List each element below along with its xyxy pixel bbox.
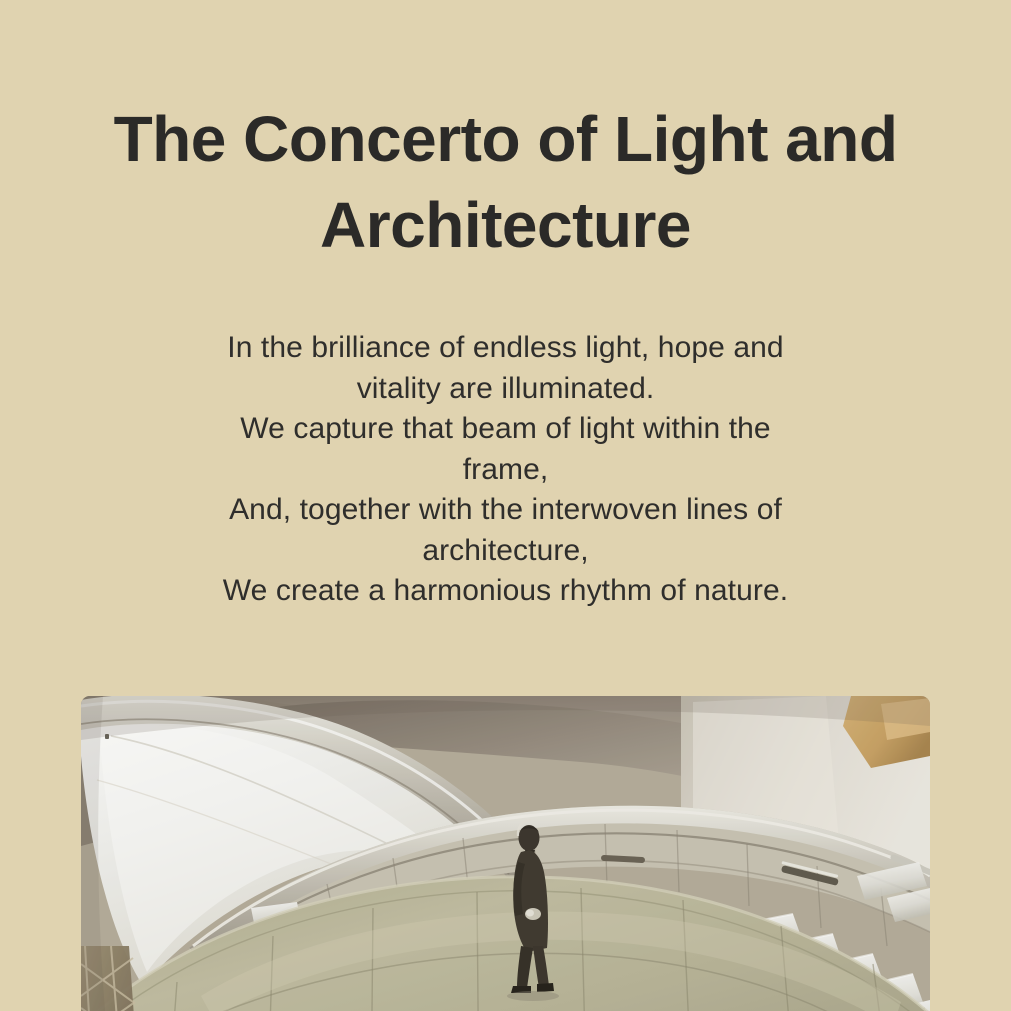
poem-line-1: In the brilliance of endless light, hope… [150, 328, 861, 369]
page-title: The Concerto of Light and Architecture [60, 96, 951, 268]
architecture-photo [81, 696, 930, 1011]
poem-block: In the brilliance of endless light, hope… [150, 328, 861, 612]
poem-line-5: And, together with the interwoven lines … [150, 490, 861, 531]
poem-line-3: We capture that beam of light within the [150, 409, 861, 450]
poem-line-6: architecture, [150, 531, 861, 572]
poster-page: The Concerto of Light and Architecture I… [0, 0, 1011, 1011]
architecture-photo-illustration [81, 696, 930, 1011]
poem-line-7: We create a harmonious rhythm of nature. [150, 571, 861, 612]
title-block: The Concerto of Light and Architecture [60, 96, 951, 268]
poem-line-2: vitality are illuminated. [150, 369, 861, 410]
poem-line-4: frame, [150, 450, 861, 491]
